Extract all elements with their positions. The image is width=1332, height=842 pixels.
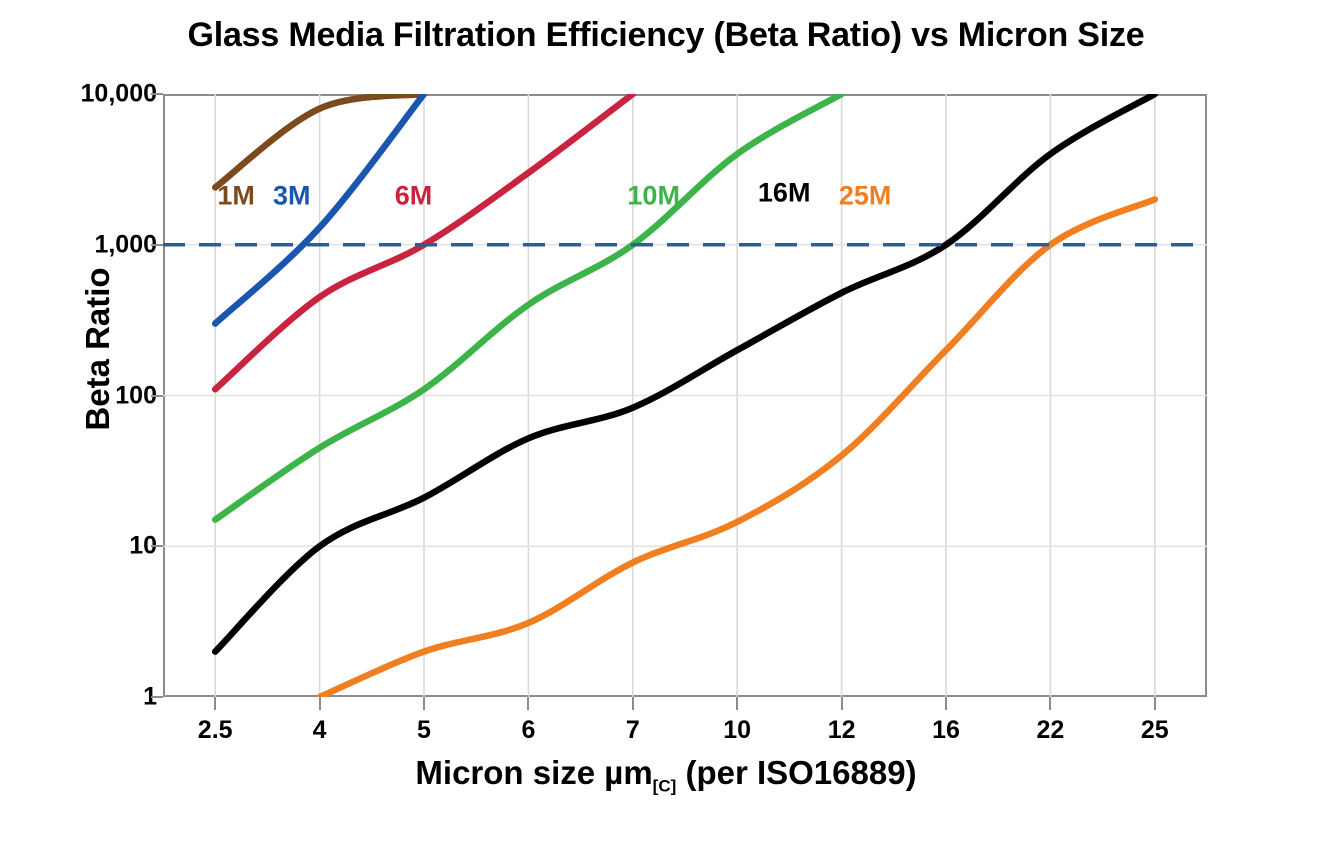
x-tick-mark	[1154, 697, 1156, 710]
x-tick-label: 2.5	[170, 716, 260, 745]
y-tick-label: 10	[37, 532, 157, 561]
x-tick-mark	[736, 697, 738, 710]
x-tick-mark	[423, 697, 425, 710]
y-tick-mark	[151, 545, 163, 547]
series-label-6M: 6M	[395, 181, 433, 212]
x-axis-label: Micron size µm[C] (per ISO16889)	[0, 754, 1332, 797]
x-tick-label: 6	[483, 716, 573, 745]
y-tick-mark	[151, 244, 163, 246]
series-label-16M: 16M	[758, 178, 811, 209]
chart-title: Glass Media Filtration Efficiency (Beta …	[0, 16, 1332, 55]
series-label-25M: 25M	[839, 181, 892, 212]
x-tick-mark	[1049, 697, 1051, 710]
x-tick-label: 7	[588, 716, 678, 745]
y-tick-label: 10,000	[37, 80, 157, 109]
plot-lines	[163, 94, 1207, 697]
chart-container: Glass Media Filtration Efficiency (Beta …	[0, 0, 1332, 842]
x-tick-label: 25	[1110, 716, 1200, 745]
x-tick-mark	[214, 697, 216, 710]
x-tick-label: 22	[1005, 716, 1095, 745]
x-tick-mark	[945, 697, 947, 710]
x-axis-label-tail: (per ISO16889)	[676, 754, 916, 791]
x-tick-mark	[632, 697, 634, 710]
x-tick-mark	[527, 697, 529, 710]
y-tick-mark	[151, 93, 163, 95]
x-tick-mark	[841, 697, 843, 710]
x-tick-label: 5	[379, 716, 469, 745]
y-tick-label: 100	[37, 381, 157, 410]
y-tick-mark	[151, 696, 163, 698]
x-tick-label: 4	[275, 716, 365, 745]
x-axis-label-main: Micron size µm	[415, 754, 652, 791]
series-label-3M: 3M	[273, 181, 311, 212]
y-tick-mark	[151, 395, 163, 397]
x-tick-label: 10	[692, 716, 782, 745]
x-tick-mark	[319, 697, 321, 710]
series-label-10M: 10M	[627, 181, 680, 212]
y-tick-label: 1,000	[37, 230, 157, 259]
series-line-16M	[215, 94, 1155, 652]
x-axis-label-sub: [C]	[653, 777, 677, 796]
x-tick-label: 12	[797, 716, 887, 745]
series-label-1M: 1M	[217, 181, 255, 212]
x-tick-label: 16	[901, 716, 991, 745]
y-tick-label: 1	[37, 683, 157, 712]
